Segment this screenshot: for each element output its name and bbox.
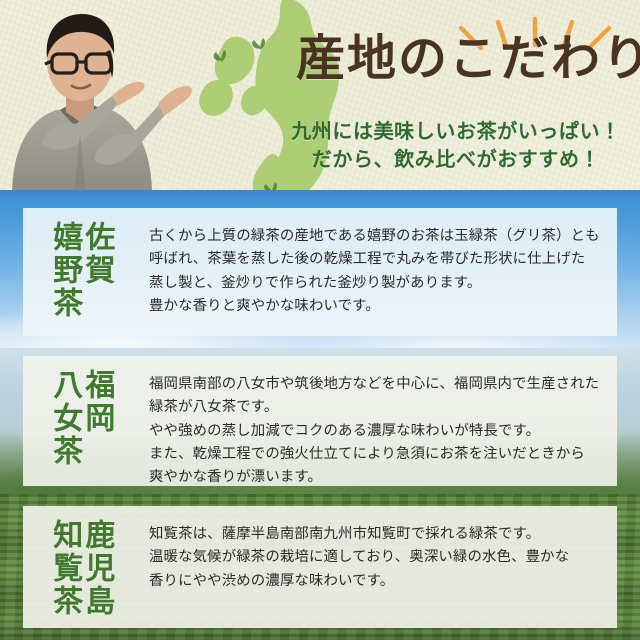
subtitle-line-2: だから、飲み比べがおすすめ！	[272, 146, 640, 174]
page-header: 産地のこだわり 九州には美味しいお茶がいっぱい！ だから、飲み比べがおすすめ！	[0, 0, 640, 196]
prefecture-label: 鹿児島	[81, 519, 112, 618]
tea-card-label-yame: 福岡 八女茶	[39, 369, 143, 468]
tea-card-label-chiran: 鹿児島 知覧茶	[39, 519, 143, 618]
description-line: 香りにやや渋めの濃厚な味わいです。	[149, 570, 603, 593]
description-line: やや強めの蒸し加減でコクのある濃厚な味わいが特長です。	[149, 420, 603, 443]
tea-name-label: 八女茶	[49, 369, 80, 468]
description-line: 知覧茶は、薩摩半島南部南九州市知覧町で採れる緑茶です。	[149, 523, 603, 546]
description-line: 古くから上質の緑茶の産地である嬉野のお茶は玉緑茶（グリ茶）とも	[149, 225, 603, 248]
tea-description-ureshino: 古くから上質の緑茶の産地である嬉野のお茶は玉緑茶（グリ茶）とも 呼ばれ、茶葉を蒸…	[143, 221, 603, 318]
description-line: 蒸し製と、釜炒りで作られた釜炒り製があります。	[149, 272, 603, 295]
tea-card-chiran: 鹿児島 知覧茶 知覧茶は、薩摩半島南部南九州市知覧町で採れる緑茶です。 温暖な気…	[23, 506, 617, 628]
product-origin-page: 産地のこだわり 九州には美味しいお茶がいっぱい！ だから、飲み比べがおすすめ！ …	[0, 0, 640, 640]
tea-name-label: 知覧茶	[49, 519, 80, 618]
description-line: また、乾燥工程での強火仕立てにより急須にお茶を注いだときから	[149, 443, 603, 466]
description-line: 爽やかな香りが漂います。	[149, 466, 603, 489]
prefecture-label: 佐賀	[81, 221, 112, 320]
tea-card-label-ureshino: 佐賀 嬉野茶	[39, 221, 143, 320]
header-subtitle: 九州には美味しいお茶がいっぱい！ だから、飲み比べがおすすめ！	[272, 118, 640, 175]
pointing-person-photo	[0, 0, 194, 196]
tea-name-label: 嬉野茶	[49, 221, 80, 320]
tea-card-yame: 福岡 八女茶 福岡県南部の八女市や筑後地方などを中心に、福岡県内で生産された 緑…	[23, 356, 617, 486]
page-title: 産地のこだわり	[296, 34, 640, 83]
prefecture-label: 福岡	[81, 369, 112, 468]
description-line: 呼ばれ、茶葉を蒸した後の乾燥工程で丸みを帯びた形状に仕上げた	[149, 248, 603, 271]
description-line: 緑茶が八女茶です。	[149, 396, 603, 419]
subtitle-line-1: 九州には美味しいお茶がいっぱい！	[272, 118, 640, 146]
tea-card-ureshino: 佐賀 嬉野茶 古くから上質の緑茶の産地である嬉野のお茶は玉緑茶（グリ茶）とも 呼…	[23, 208, 617, 336]
description-line: 豊かな香りと爽やかな味わいです。	[149, 295, 603, 318]
tea-description-yame: 福岡県南部の八女市や筑後地方などを中心に、福岡県内で生産された 緑茶が八女茶です…	[143, 369, 603, 490]
tea-description-chiran: 知覧茶は、薩摩半島南部南九州市知覧町で採れる緑茶です。 温暖な気候が緑茶の栽培に…	[143, 519, 603, 593]
description-line: 福岡県南部の八女市や筑後地方などを中心に、福岡県内で生産された	[149, 373, 603, 396]
header-divider-strip	[0, 190, 640, 196]
description-line: 温暖な気候が緑茶の栽培に適しており、奥深い緑の水色、豊かな	[149, 546, 603, 569]
